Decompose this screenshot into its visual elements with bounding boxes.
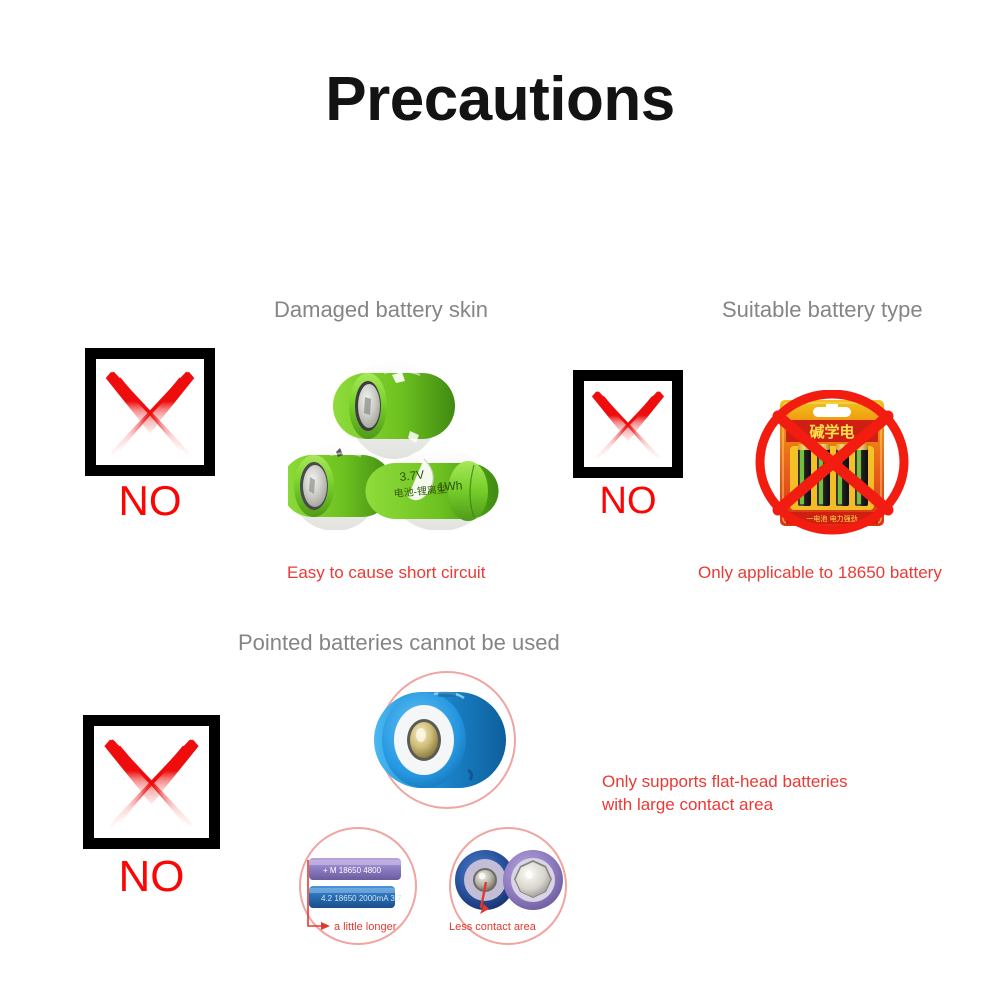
illustration-length-comparison: + M 18650 4800 4.2 18650 2000mA 3.7 a li… [287,826,429,950]
caption-line-1: Only supports flat-head batteries [602,771,902,794]
illustration-pointed-top-cell [352,668,552,833]
caption-flat-head-batteries: Only supports flat-head batteries with l… [602,771,902,817]
no-label-pointed-batteries: NO [83,855,220,899]
caption-line-2: with large contact area [602,794,902,817]
no-badge-damaged-battery: NO [85,348,215,522]
svg-text:一电池 电力强劲: 一电池 电力强劲 [806,514,857,523]
red-brush-x-icon [85,348,215,476]
detail-label-less-contact-area: Less contact area [449,921,537,933]
no-badge-pointed-batteries: NO [83,715,220,899]
svg-text:碱学电: 碱学电 [809,423,854,441]
red-brush-x-icon [573,370,683,478]
caption-only-18650: Only applicable to 18650 battery [698,563,942,583]
section-heading-pointed-batteries: Pointed batteries cannot be used [238,630,560,656]
detail-label-a-little-longer: a little longer [334,921,397,933]
illustration-contact-area-comparison: Less contact area [437,826,579,950]
no-label-damaged-battery: NO [85,480,215,522]
illustration-alkaline-pack-prohibited: 碱学电 一电池 电力强劲 [742,390,922,540]
illustration-damaged-green-cells: 3.7V 1Wh 电池-锂离型 [288,355,508,530]
section-heading-damaged-battery-skin: Damaged battery skin [274,297,488,323]
red-brush-x-icon [83,715,220,849]
page-title: Precautions [0,64,1000,135]
svg-text:3.7V: 3.7V [399,467,425,484]
no-label-suitable-battery: NO [573,482,683,520]
svg-text:+ M 18650 4800: + M 18650 4800 [323,866,382,875]
section-heading-suitable-battery-type: Suitable battery type [722,297,923,323]
no-badge-suitable-battery: NO [573,370,683,520]
svg-text:4.2 18650 2000mA 3.7: 4.2 18650 2000mA 3.7 [321,894,402,903]
caption-easy-short-circuit: Easy to cause short circuit [287,563,485,583]
